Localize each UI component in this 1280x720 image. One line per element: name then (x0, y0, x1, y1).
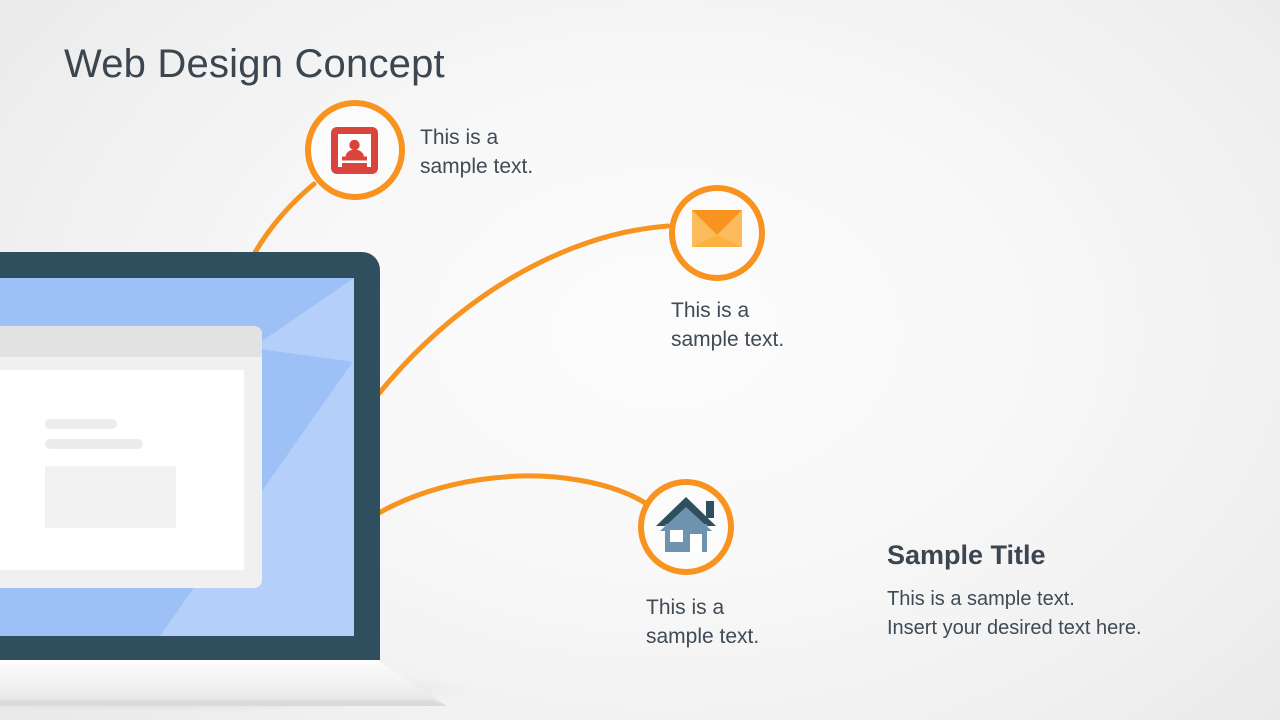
sample-title: Sample Title (887, 540, 1142, 571)
callout-text-home: This is a sample text. (646, 593, 759, 651)
callout-text-mail: This is a sample text. (671, 296, 784, 354)
envelope-icon (692, 210, 742, 247)
contact-card-icon (331, 127, 378, 174)
callout-node-mail[interactable] (672, 188, 762, 278)
sample-body: This is a sample text. Insert your desir… (887, 585, 1142, 643)
slide-canvas: Web Design Concept (0, 0, 1280, 720)
sample-text-block: Sample Title This is a sample text. Inse… (887, 540, 1142, 643)
callout-node-contact[interactable] (308, 103, 402, 197)
callout-text-contact: This is a sample text. (420, 123, 533, 181)
callout-node-home[interactable] (641, 482, 731, 572)
